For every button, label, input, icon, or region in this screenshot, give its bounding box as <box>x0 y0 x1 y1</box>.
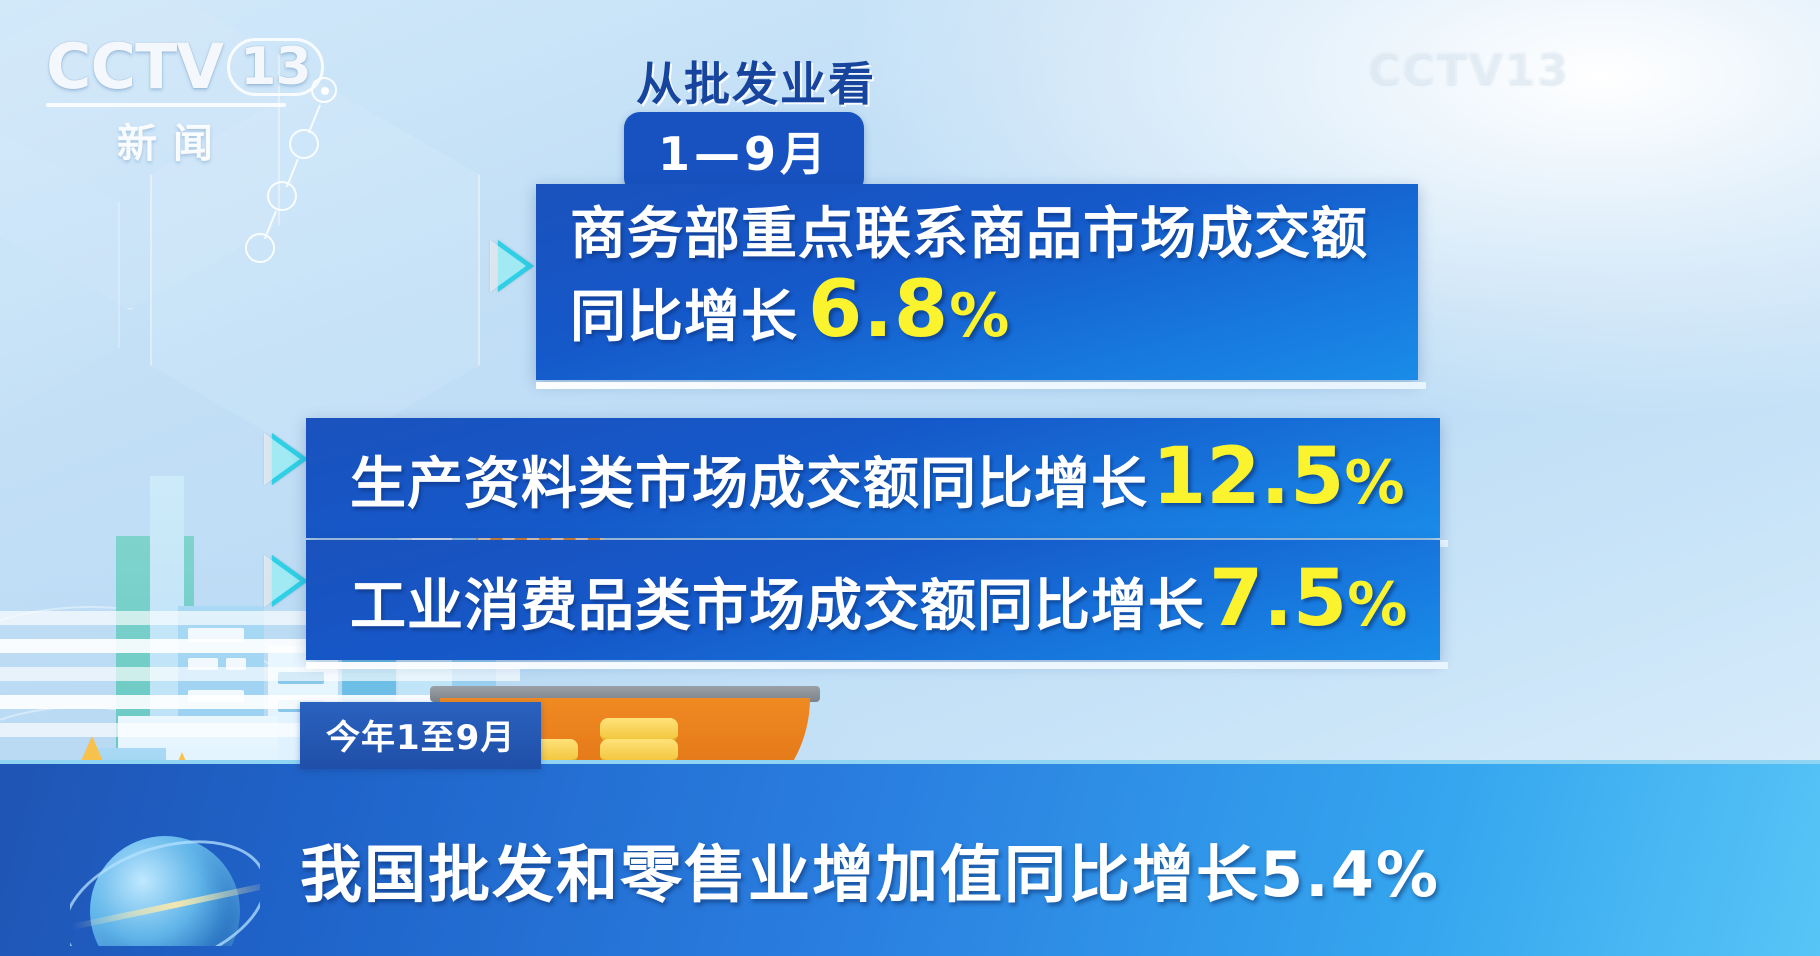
logo-text: CCTV <box>46 36 223 98</box>
panel-1-line2-prefix: 同比增长 <box>570 287 798 350</box>
panel-1-unit: % <box>949 281 1010 351</box>
panel-1-value: 6.8 <box>808 265 949 355</box>
panel-2-value: 12.5 <box>1152 432 1344 522</box>
period-badge: 1—9月 <box>624 112 864 194</box>
stat-panel-3: 工业消费品类市场成交额同比增长 7.5% <box>306 540 1440 660</box>
logo-subtitle: 新闻 <box>46 111 286 169</box>
lower-third-headline: 我国批发和零售业增加值同比增长5.4% <box>300 824 1440 914</box>
panel-1-line1: 商务部重点联系商品市场成交额 <box>570 204 1392 267</box>
panel-3-unit: % <box>1347 570 1407 640</box>
broadcast-stage: CCTV 13 新闻 CCTV13 从批发业看 1—9月 商务部重点联系商品市场… <box>0 0 1820 956</box>
lower-third-tag: 今年1至9月 <box>300 702 541 769</box>
stat-panel-1: 商务部重点联系商品市场成交额 同比增长 6.8% <box>536 184 1418 380</box>
panel-3-underline <box>306 662 1448 669</box>
logo-divider <box>46 103 286 107</box>
chevron-right-icon <box>272 555 308 607</box>
watermark: CCTV13 <box>1368 44 1570 95</box>
panel-3-value: 7.5 <box>1209 554 1347 644</box>
panel-2-unit: % <box>1344 448 1404 518</box>
infographic-kicker: 从批发业看 <box>636 48 876 114</box>
stat-panel-2: 生产资料类市场成交额同比增长 12.5% <box>306 418 1440 538</box>
globe-graphic <box>70 806 260 946</box>
panel-2-value-group: 12.5% <box>1152 432 1405 522</box>
channel-logo: CCTV 13 新闻 <box>46 36 286 146</box>
panel-3-value-group: 7.5% <box>1209 554 1407 644</box>
logo-number: 13 <box>227 38 323 96</box>
panel-1-underline <box>536 382 1426 389</box>
panel-2-line1: 生产资料类市场成交额同比增长 <box>350 454 1148 517</box>
chevron-right-icon <box>272 433 308 485</box>
chevron-right-icon <box>498 240 534 292</box>
panel-3-line1: 工业消费品类市场成交额同比增长 <box>350 576 1205 639</box>
panel-1-value-group: 6.8% <box>808 267 1010 354</box>
